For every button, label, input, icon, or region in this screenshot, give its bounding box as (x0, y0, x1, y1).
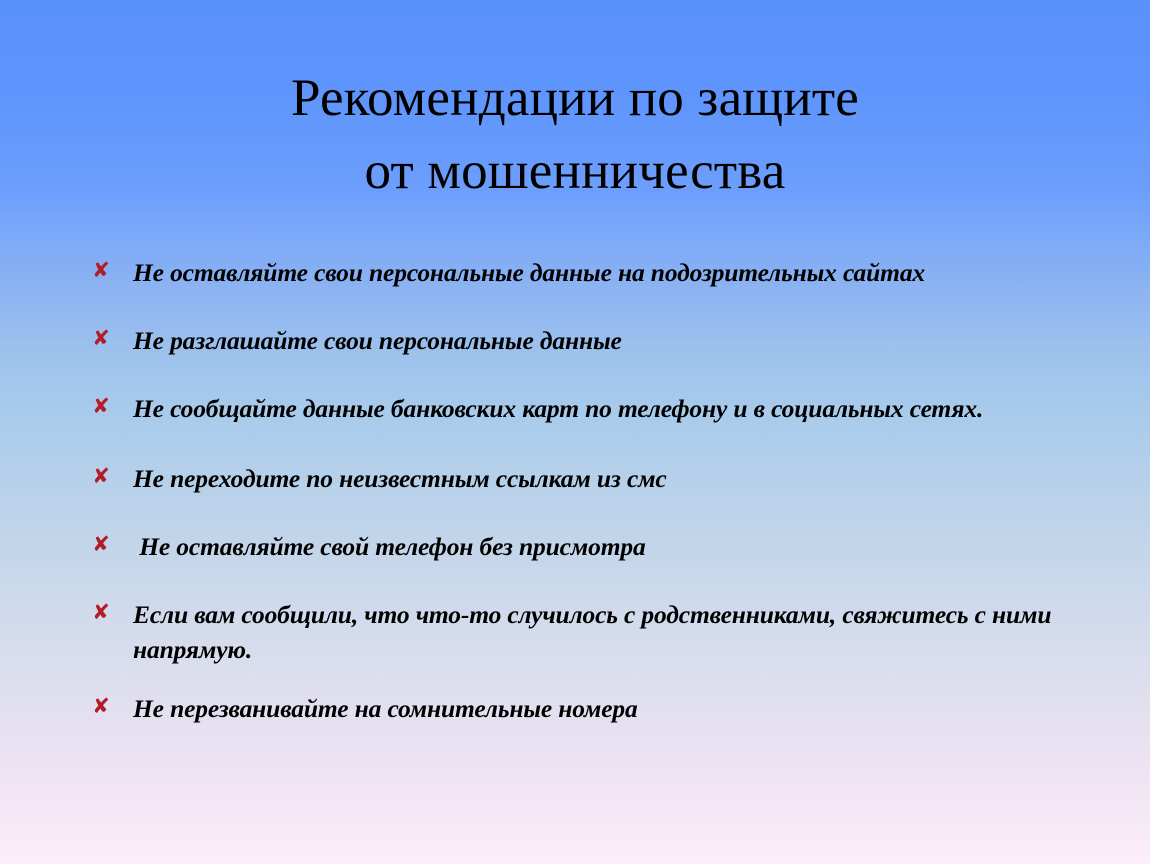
list-item: ✘ Не оставляйте свой телефон без присмот… (86, 529, 1096, 564)
list-item-label: Не оставляйте свой телефон без присмотра (133, 529, 1096, 564)
page-title-line-2: от мошенничества (0, 135, 1150, 208)
list-item-label: Не сообщайте данные банковских карт по т… (133, 391, 1096, 426)
cross-mark-icon: ✘ (90, 327, 112, 349)
list-item-label: Не оставляйте свои персональные данные н… (133, 255, 1096, 290)
list-item-label: Если вам сообщили, что что-то случилось … (133, 597, 1096, 667)
cross-mark-icon: ✘ (90, 695, 112, 717)
cross-mark-icon: ✘ (90, 533, 112, 555)
cross-mark-icon: ✘ (90, 465, 112, 487)
recommendations-list: ✘ Не оставляйте свои персональные данные… (86, 255, 1096, 726)
list-item: ✘ Если вам сообщили, что что-то случилос… (86, 597, 1096, 667)
list-item-label: Не переходите по неизвестным ссылкам из … (133, 461, 1096, 496)
list-item: ✘ Не оставляйте свои персональные данные… (86, 255, 1096, 290)
list-item: ✘ Не перезванивайте на сомнительные номе… (86, 691, 1096, 726)
page-title-line-1: Рекомендации по защите (0, 62, 1150, 135)
list-item: ✘ Не сообщайте данные банковских карт по… (86, 391, 1096, 426)
page-title: Рекомендации по защите от мошенничества (0, 62, 1150, 208)
list-item-label: Не перезванивайте на сомнительные номера (133, 691, 1096, 726)
list-item: ✘ Не разглашайте свои персональные данны… (86, 323, 1096, 358)
list-item: ✘ Не переходите по неизвестным ссылкам и… (86, 461, 1096, 496)
cross-mark-icon: ✘ (90, 259, 112, 281)
cross-mark-icon: ✘ (90, 601, 112, 623)
list-item-label: Не разглашайте свои персональные данные (133, 323, 1096, 358)
slide-canvas: Рекомендации по защите от мошенничества … (0, 0, 1150, 864)
cross-mark-icon: ✘ (90, 395, 112, 417)
